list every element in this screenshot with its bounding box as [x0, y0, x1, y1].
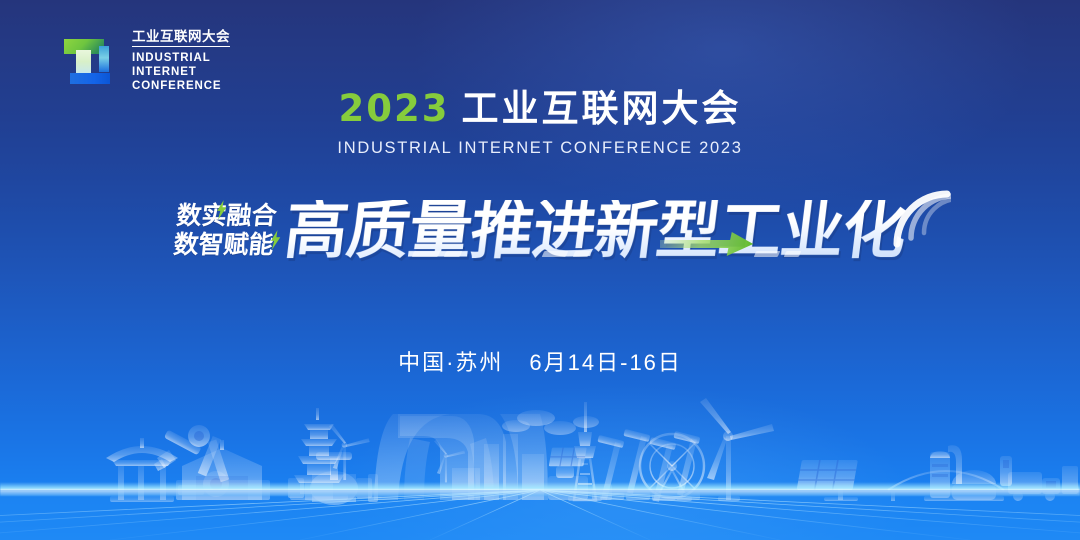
logo-cn-name: 工业互联网大会 — [132, 30, 230, 47]
speed-slash — [444, 251, 463, 257]
slogan-block: 数实融合 数智赋能 高质量推进新型工业化 — [0, 176, 1080, 286]
title-subtitle: INDUSTRIAL INTERNET CONFERENCE 2023 — [0, 139, 1080, 158]
speed-slash — [784, 251, 802, 257]
title-year: 2023 — [339, 87, 450, 130]
speed-slash — [754, 251, 781, 257]
logo-en-line1: INDUSTRIAL — [132, 53, 230, 65]
slogan-main: 高质量推进新型工业化 — [281, 200, 909, 263]
slogan-small-text-2: 数智赋能 — [172, 231, 275, 259]
speed-slash — [542, 251, 569, 257]
title-main-row: 2023工业互联网大会 — [0, 88, 1080, 131]
event-dates: 6月14日-16日 — [529, 350, 682, 375]
page-title: 2023工业互联网大会 INDUSTRIAL INTERNET CONFEREN… — [0, 88, 1080, 158]
event-location: 中国·苏州 — [398, 350, 503, 375]
conference-poster: 工业互联网大会 INDUSTRIAL INTERNET CONFERENCE 2… — [0, 0, 1080, 540]
slogan-inner: 数实融合 数智赋能 高质量推进新型工业化 — [175, 200, 905, 263]
slogan-secondary: 数实融合 数智赋能 — [172, 204, 278, 258]
skyline-illustration — [0, 380, 1080, 540]
industrial-internet-conference-logo-icon — [58, 30, 120, 92]
title-cn: 工业互联网大会 — [461, 88, 741, 129]
speed-slash — [573, 251, 591, 257]
event-dateline: 中国·苏州6月14日-16日 — [0, 345, 1080, 377]
slogan-small-line-2: 数智赋能 — [172, 233, 275, 258]
lightning-bolt-icon — [270, 230, 281, 250]
speed-slash — [412, 251, 441, 257]
brand-logo[interactable]: 工业互联网大会 INDUSTRIAL INTERNET CONFERENCE — [58, 30, 230, 92]
green-arrow-icon — [660, 231, 756, 257]
perspective-grid-floor — [0, 490, 1080, 540]
slogan-small-line-1: 数实融合 — [175, 204, 278, 229]
wifi-signal-icon — [889, 186, 951, 248]
logo-en-line2: INTERNET — [132, 67, 230, 79]
